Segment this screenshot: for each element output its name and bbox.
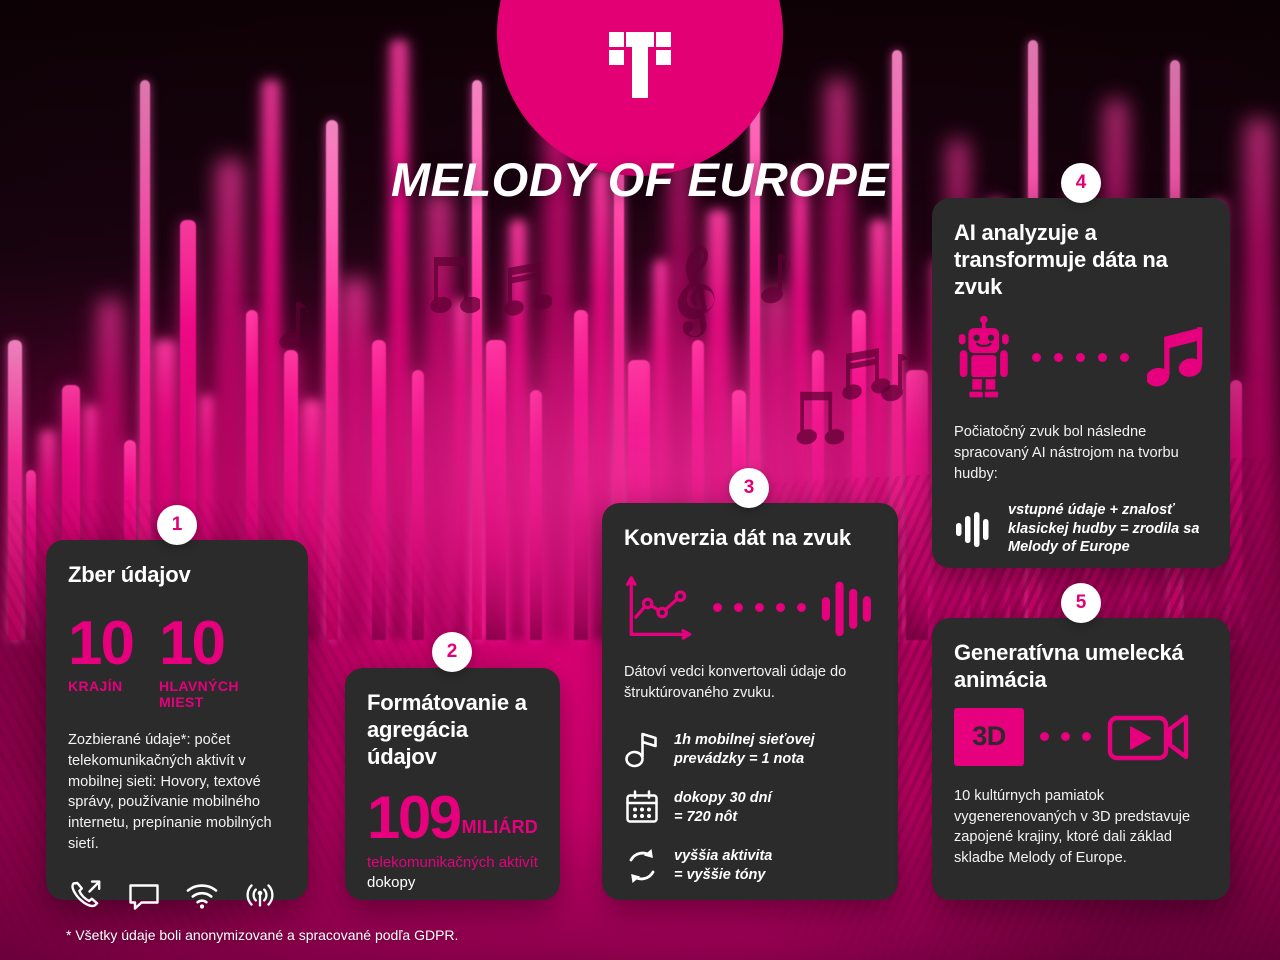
waveform-icon (820, 573, 876, 643)
card-ai-analyzuje[interactable]: AI analyzuje a transformuje dáta na zvuk (932, 198, 1230, 568)
stat-krajin-label: KRAJÍN (68, 678, 133, 694)
card4-quote: vstupné údaje + znalosť klasickej hudby … (954, 501, 1208, 557)
card3-facts: 1h mobilnej sieťovej prevádzky = 1 nota … (624, 730, 876, 886)
card-konverzia-dat[interactable]: Konverzia dát na zvuk Dátoví vedci k (602, 503, 898, 900)
message-bubble-icon (126, 877, 162, 913)
card4-body: Počiatočný zvuk bol následne spracovaný … (954, 422, 1208, 485)
card4-dots-connector (1032, 353, 1129, 362)
wifi-icon (184, 877, 220, 913)
fact-row-3: vyššia aktivita = vyššie tóny (624, 846, 876, 886)
robot-icon (954, 314, 1014, 400)
fact-row-2-text: dokopy 30 dní = 720 nôt (674, 789, 772, 825)
card-zber-udajov[interactable]: Zber údajov 10 KRAJÍN 10 HLAVNÝCH MIEST … (46, 540, 308, 900)
music-note-icon (624, 730, 660, 770)
fact-row-2-line1: dokopy 30 dní (674, 789, 772, 807)
stat-hlavnych-miest-label: HLAVNÝCH MIEST (159, 678, 286, 710)
card2-big-unit: MILIÁRD (462, 817, 538, 838)
card3-title: Konverzia dát na zvuk (624, 525, 876, 552)
card3-graphic-row (624, 570, 876, 646)
card4-quote-text: vstupné údaje + znalosť klasickej hudby … (1008, 501, 1199, 557)
telekom-t-logo-icon (497, 20, 783, 110)
card2-subtext-white: dokopy (367, 874, 415, 891)
video-camera-icon (1107, 708, 1193, 766)
fact-row-1-line1: 1h mobilnej sieťovej (674, 731, 815, 749)
card5-title: Generatívna umelecká animácia (954, 640, 1208, 694)
fact-row-3-line1: vyššia aktivita (674, 847, 772, 865)
card3-dots-connector (713, 603, 806, 612)
card5-graphic-row: 3D (954, 708, 1208, 766)
card-formatovanie-agregacia[interactable]: Formátovanie a agregácia údajov 109 MILI… (345, 668, 560, 900)
card2-big-number: 109 (367, 792, 460, 845)
3d-badge: 3D (954, 708, 1024, 766)
step-badge-3: 3 (729, 468, 769, 508)
step-badge-1: 1 (157, 505, 197, 545)
refresh-cycle-icon (624, 846, 660, 886)
card4-quote-line3: Melody of Europe (1008, 538, 1199, 557)
step-badge-5: 5 (1061, 583, 1101, 623)
card5-dots-connector (1040, 732, 1091, 741)
footnote: * Všetky údaje boli anonymizované a spra… (66, 927, 458, 943)
step-badge-4: 4 (1061, 163, 1101, 203)
fact-row-1-line2: prevádzky = 1 nota (674, 750, 815, 768)
step-badge-2: 2 (432, 632, 472, 672)
card2-subtext-magenta: telekomunikačných aktivít (367, 854, 538, 871)
card4-graphic-row (954, 314, 1208, 400)
fact-row-3-text: vyššia aktivita = vyššie tóny (674, 847, 772, 883)
card4-title: AI analyzuje a transformuje dáta na zvuk (954, 220, 1208, 300)
card1-body: Zozbierané údaje*: počet telekomunikačný… (68, 730, 286, 855)
card2-title: Formátovanie a agregácia údajov (367, 690, 538, 770)
card1-icon-row (68, 877, 286, 913)
card1-stats: 10 KRAJÍN 10 HLAVNÝCH MIEST (68, 615, 286, 710)
calendar-icon (624, 788, 660, 828)
card4-quote-line2: klasickej hudby = zrodila sa (1008, 520, 1199, 539)
fact-row-2: dokopy 30 dní = 720 nôt (624, 788, 876, 828)
outgoing-call-icon (68, 877, 104, 913)
stat-krajin-value: 10 (68, 615, 133, 672)
fact-row-1-text: 1h mobilnej sieťovej prevádzky = 1 nota (674, 731, 815, 767)
stat-krajin: 10 KRAJÍN (68, 615, 133, 710)
cell-antenna-icon (242, 877, 278, 913)
card3-body: Dátoví vedci konvertovali údaje do štruk… (624, 662, 876, 704)
card2-big-number-row: 109 MILIÁRD (367, 792, 538, 845)
infographic-root: MELODY OF EUROPE 1 Zber údajov 10 KRAJÍN… (0, 0, 1280, 960)
card4-quote-line1: vstupné údaje + znalosť (1008, 501, 1199, 520)
stat-hlavnych-miest-value: 10 (159, 615, 286, 672)
fact-row-2-line2: = 720 nôt (674, 808, 772, 826)
card2-subtext: telekomunikačných aktivít dokopy (367, 853, 538, 892)
beamed-notes-icon (1147, 320, 1208, 394)
stat-hlavnych-miest: 10 HLAVNÝCH MIEST (159, 615, 286, 710)
waveform-icon (954, 510, 994, 548)
card5-body: 10 kultúrnych pamiatok vygenerenovaných … (954, 786, 1208, 869)
line-chart-icon (624, 570, 699, 646)
card-generativna-animacia[interactable]: Generatívna umelecká animácia 3D 10 kult… (932, 618, 1230, 900)
fact-row-1: 1h mobilnej sieťovej prevádzky = 1 nota (624, 730, 876, 770)
card1-title: Zber údajov (68, 562, 286, 589)
fact-row-3-line2: = vyššie tóny (674, 866, 772, 884)
